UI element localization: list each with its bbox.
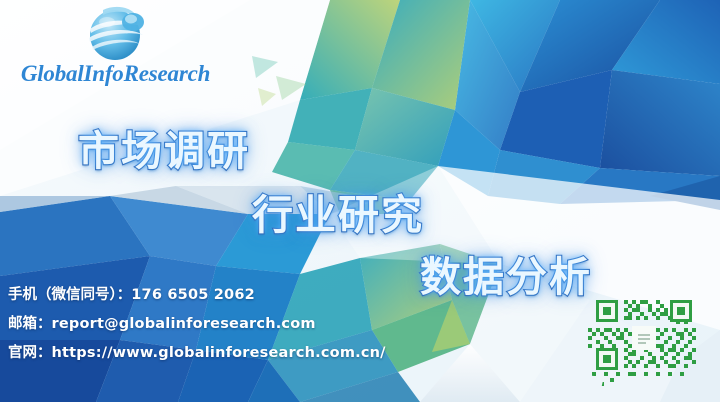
contact-email-label: 邮箱： — [8, 316, 52, 332]
contact-phone-value: 176 6505 2062 — [131, 287, 255, 303]
contact-email-value: report@globalinforesearch.com — [52, 316, 316, 332]
marketing-poster: GlobalInfoResearch 市场调研 行业研究 数据分析 手机（微信同… — [0, 0, 720, 402]
globe-icon — [77, 2, 155, 64]
brand-logo: GlobalInfoResearch — [8, 2, 223, 87]
wechat-qr-code[interactable] — [570, 286, 716, 398]
headline-industry-research: 行业研究 — [252, 181, 424, 241]
qr-modules — [570, 286, 716, 398]
headline-market-research: 市场调研 — [78, 117, 250, 177]
headline-data-analysis: 数据分析 — [420, 243, 592, 303]
contact-website: 官网：https://www.globalinforesearch.com.cn… — [8, 341, 386, 362]
contact-phone-label: 手机（微信同号）： — [8, 287, 131, 303]
contact-website-value: https://www.globalinforesearch.com.cn/ — [52, 345, 386, 361]
brand-wordmark: GlobalInfoResearch — [8, 61, 223, 87]
contact-phone: 手机（微信同号）：176 6505 2062 — [8, 283, 255, 304]
contact-email: 邮箱：report@globalinforesearch.com — [8, 312, 316, 333]
contact-website-label: 官网： — [8, 345, 52, 361]
